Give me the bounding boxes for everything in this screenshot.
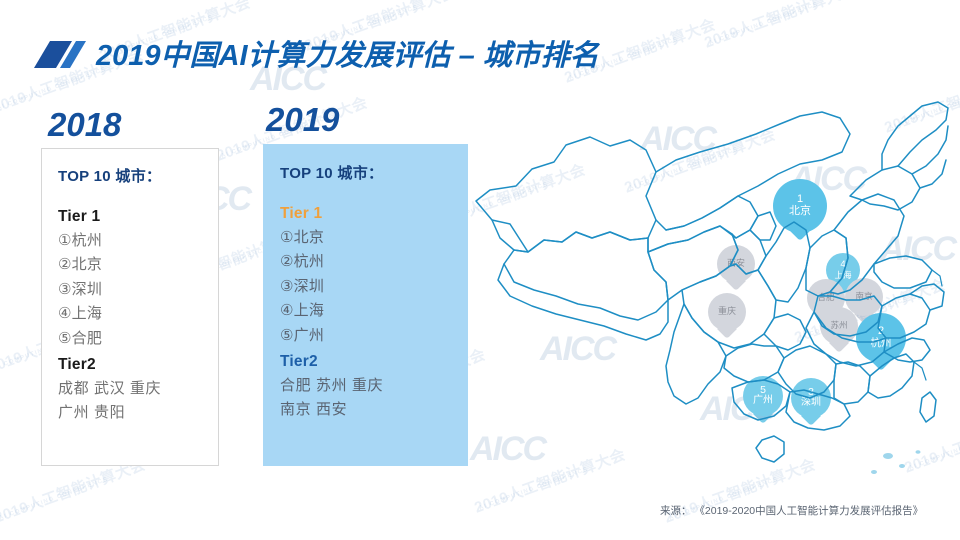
watermark-subtext: AI COMPUTING CONFERENCE	[708, 1, 819, 46]
city-rank-item: ③深圳	[58, 278, 218, 302]
city-rank-item: ②北京	[58, 253, 218, 277]
city-rank-item: ④上海	[280, 299, 468, 323]
tier2-city-line: 广州 贵阳	[58, 401, 218, 425]
south-china-sea-islands	[871, 450, 921, 474]
ranking-panel-2018: TOP 10 城市： Tier 1 ①杭州 ②北京 ③深圳 ④上海 ⑤合肥 Ti…	[41, 148, 219, 466]
tier2-city-line: 成都 武汉 重庆	[58, 377, 218, 401]
ranking-panel-2019: TOP 10 城市： Tier 1 ①北京 ②杭州 ③深圳 ④上海 ⑤广州 Ti…	[263, 144, 468, 466]
year-label-2019: 2019	[266, 101, 339, 139]
page-title: 2019中国AI计算力发展评估 – 城市排名	[96, 32, 599, 74]
panel-heading-2019: TOP 10 城市：	[280, 162, 468, 183]
city-rank-item: ⑤广州	[280, 324, 468, 348]
panel-heading-2018: TOP 10 城市：	[58, 165, 218, 186]
source-note: 来源： 《2019-2020中国人工智能计算力发展评估报告》	[660, 503, 923, 518]
year-label-2018: 2018	[48, 106, 121, 144]
china-map	[470, 100, 950, 500]
city-rank-item: ①杭州	[58, 229, 218, 253]
tier2-label-2019: Tier2	[280, 353, 468, 371]
china-map-outline	[470, 100, 950, 500]
tier2-label-2018: Tier2	[58, 356, 218, 374]
city-rank-item: ⑤合肥	[58, 327, 218, 351]
city-rank-item: ①北京	[280, 226, 468, 250]
aicc-logo-mark	[32, 38, 92, 72]
city-rank-item: ②杭州	[280, 250, 468, 274]
tier1-label-2018: Tier 1	[58, 208, 218, 226]
tier2-city-line: 南京 西安	[280, 398, 468, 422]
watermark-subtext: AI COMPUTING CONFERENCE	[0, 476, 109, 521]
watermark-text: 2019人工智能计算大会	[701, 0, 858, 53]
city-rank-item: ④上海	[58, 302, 218, 326]
tier2-city-line: 合肥 苏州 重庆	[280, 374, 468, 398]
watermark-subtext: AI COMPUTING CONFERENCE	[0, 66, 107, 111]
tier1-label-2019: Tier 1	[280, 205, 468, 223]
city-rank-item: ③深圳	[280, 275, 468, 299]
